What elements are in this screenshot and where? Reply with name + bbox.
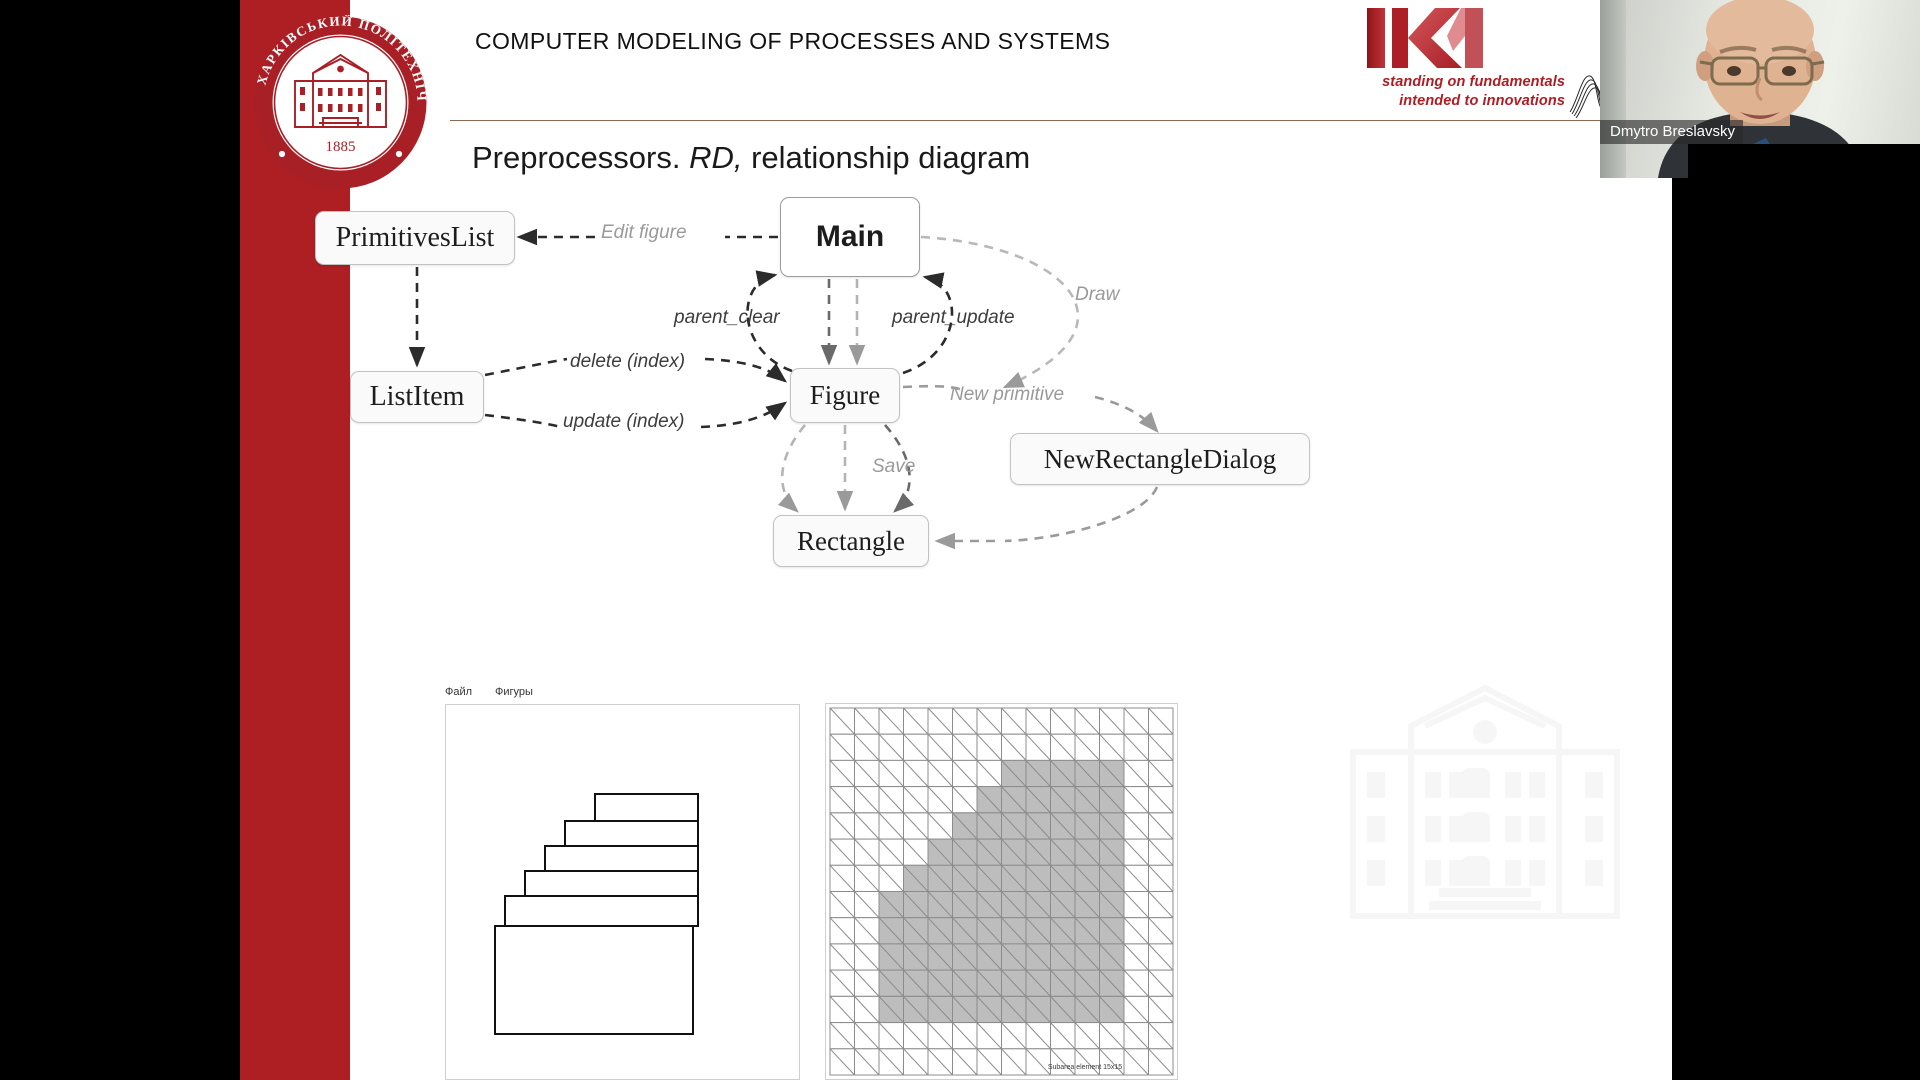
khpi-seal: ХАРКІВСЬКИЙ ПОЛІТЕХНІЧНИЙ ІНСТИТУТ Н Т У [253,15,428,190]
app-screenshot: Файл Фигуры Subarea element 15x15 [445,686,1175,1080]
svg-text:1885: 1885 [326,139,356,155]
triangular-mesh [826,704,1177,1079]
step-rectangle [564,820,699,847]
participant-name-badge: Dmytro Breslavsky [1600,120,1743,144]
mesh-panel[interactable] [825,703,1178,1080]
node-figure[interactable]: Figure [790,368,900,423]
node-listitem[interactable]: ListItem [350,371,484,423]
building-watermark-icon [1335,680,1635,940]
brand-tagline-line1: standing on fundamentals [1315,74,1565,90]
slide-title: Preprocessors. RD, relationship diagram [472,140,1030,176]
step-rectangle [524,870,699,897]
slide-title-suffix: relationship diagram [742,140,1030,175]
menu-item-file[interactable]: Файл [445,686,472,698]
menu-item-figures[interactable]: Фигуры [495,686,533,698]
step-rectangle [494,925,694,1035]
relationship-diagram: PrimitivesList ListItem Main Figure NewR… [305,175,1570,595]
node-main[interactable]: Main [780,197,920,277]
screen-root: ХАРКІВСЬКИЙ ПОЛІТЕХНІЧНИЙ ІНСТИТУТ Н Т У [0,0,1920,1080]
node-primitiveslist[interactable]: PrimitivesList [315,211,515,265]
edge-label-edit-figure: Edit figure [601,222,687,244]
step-rectangle [504,895,699,927]
edge-label-parent-update: parent_update [892,307,1015,329]
page-title: COMPUTER MODELING OF PROCESSES AND SYSTE… [475,28,1275,55]
webcam-bottom-bar [1688,144,1920,178]
edge-label-save: Save [872,456,915,478]
edge-label-draw: Draw [1075,284,1119,306]
slide-canvas: ХАРКІВСЬКИЙ ПОЛІТЕХНІЧНИЙ ІНСТИТУТ Н Т У [240,0,1672,1080]
webcam-tile[interactable]: Dmytro Breslavsky [1600,0,1920,178]
step-rectangle [594,793,699,822]
edge-label-parent-clear: parent_clear [674,307,780,329]
slide-title-prefix: Preprocessors. [472,140,689,175]
node-newrectangledialog[interactable]: NewRectangleDialog [1010,433,1310,485]
edge-label-update-index: update (index) [563,411,684,433]
drawing-canvas[interactable] [445,704,800,1080]
edge-label-new-primitive: New primitive [950,384,1064,406]
ikm-logo-icon [1365,6,1505,70]
edge-label-delete-index: delete (index) [570,351,685,373]
slide-title-italic: RD, [689,140,742,175]
mesh-caption: Subarea element 15x15 [975,1064,1195,1071]
ikm-brand-block: standing on fundamentals intended to inn… [1315,4,1565,122]
step-rectangle [544,845,699,872]
brand-tagline-line2: intended to innovations [1315,93,1565,109]
node-rectangle[interactable]: Rectangle [773,515,929,567]
